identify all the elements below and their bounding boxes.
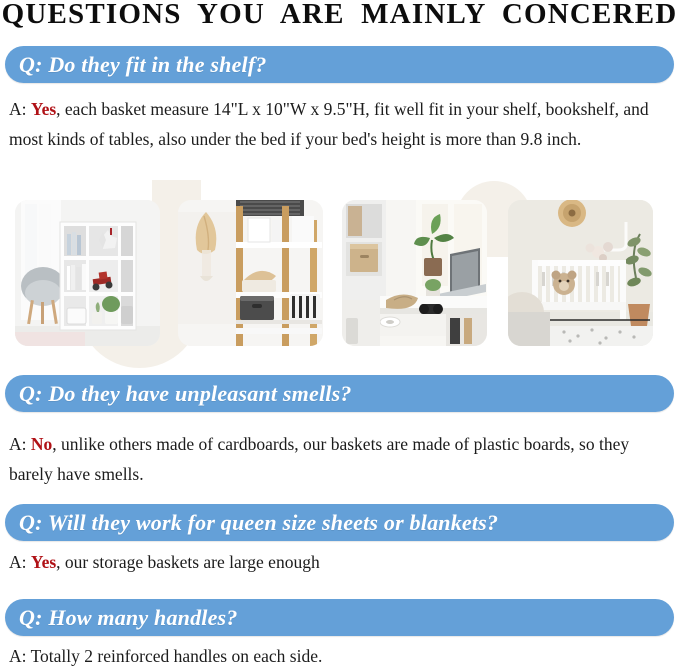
faq-answer-rest-1: , each basket measure 14"L x 10"W x 9.5"… <box>9 99 649 149</box>
faq-question-bar-1: Q: Do they fit in the shelf? <box>5 46 674 83</box>
product-photo-gallery <box>0 200 679 346</box>
faq-answer-1: A: Yes, each basket measure 14"L x 10"W … <box>9 94 679 154</box>
gallery-photo-1[interactable] <box>15 200 160 346</box>
faq-answer-prefix-3: A: <box>9 552 31 572</box>
faq-answer-prefix-4: A: <box>9 646 31 666</box>
page-title: QUESTIONS YOU ARE MAINLY CONCERED <box>0 0 679 32</box>
photo-nursery-crib <box>508 200 653 346</box>
faq-answer-rest-4: Totally 2 reinforced handles on each sid… <box>31 646 323 666</box>
faq-question-text-2: Q: Do they have unpleasant smells? <box>19 381 352 407</box>
faq-answer-highlight-2: No <box>31 434 52 454</box>
photo-white-cube-bookshelf-living-room <box>15 200 160 346</box>
faq-question-text-3: Q: Will they work for queen size sheets … <box>19 510 498 536</box>
faq-question-text-4: Q: How many handles? <box>19 605 238 631</box>
gallery-photo-4[interactable] <box>508 200 653 346</box>
faq-question-bar-2: Q: Do they have unpleasant smells? <box>5 375 674 412</box>
faq-answer-highlight-1: Yes <box>31 99 56 119</box>
faq-answer-2: A: No, unlike others made of cardboards,… <box>9 429 669 489</box>
faq-question-bar-4: Q: How many handles? <box>5 599 674 636</box>
faq-question-bar-3: Q: Will they work for queen size sheets … <box>5 504 674 541</box>
photo-wooden-bunk-bed-shelving <box>178 200 323 346</box>
gallery-photo-3[interactable] <box>342 200 487 346</box>
faq-question-text-1: Q: Do they fit in the shelf? <box>19 52 267 78</box>
faq-answer-rest-3: , our storage baskets are large enough <box>56 552 320 572</box>
faq-answer-3: A: Yes, our storage baskets are large en… <box>9 547 677 577</box>
faq-answer-prefix-1: A: <box>9 99 31 119</box>
gallery-photo-2[interactable] <box>178 200 323 346</box>
faq-answer-highlight-3: Yes <box>31 552 56 572</box>
faq-answer-4: A: Totally 2 reinforced handles on each … <box>9 641 677 671</box>
photo-home-office-desk <box>342 200 487 346</box>
faq-answer-rest-2: , unlike others made of cardboards, our … <box>9 434 629 484</box>
faq-answer-prefix-2: A: <box>9 434 31 454</box>
